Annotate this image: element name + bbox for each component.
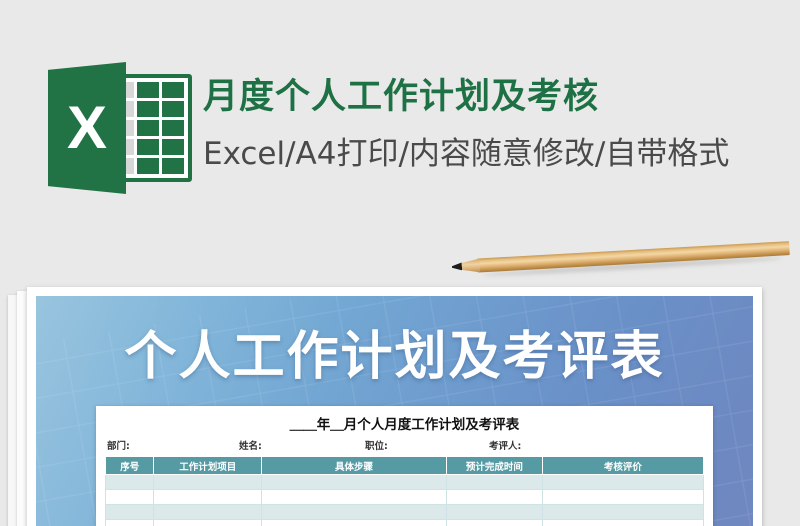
table-row [106,490,704,505]
table-cell [154,505,262,520]
table-cell [542,475,703,490]
table-cell [262,505,447,520]
grid-cell [137,82,159,98]
table-cell [106,505,154,520]
table-header-evaluation: 考核评价 [542,457,703,475]
table-cell [446,475,542,490]
table-cell [154,520,262,526]
table-cell [446,520,542,526]
header-banner: X 月度个人工作计划及考核 Excel/A4打印/内容随意修改/自带格式 [0,0,800,240]
table-cell [542,520,703,526]
inner-spreadsheet[interactable]: ＿＿年＿月个人月度工作计划及考评表 部门: 姓名: 职位: 考评人: 序号 工作… [96,406,713,526]
table-header-seq: 序号 [106,457,154,475]
table-cell [106,475,154,490]
meta-field-name: 姓名: [239,438,365,452]
work-plan-table: 序号 工作计划项目 具体步骤 预计完成时间 考核评价 [105,456,704,526]
page-title: 月度个人工作计划及考核 [203,68,599,119]
document-page-front[interactable]: 个人工作计划及考评表 ＿＿年＿月个人月度工作计划及考评表 部门: 姓名: 职位:… [27,287,762,526]
grid-cell [137,158,159,174]
meta-field-evaluator: 考评人: [489,438,609,452]
table-cell [262,490,447,505]
grid-cell [162,120,184,136]
meta-field-row: 部门: 姓名: 职位: 考评人: [105,438,704,452]
grid-cell [162,101,184,117]
document-heading: 个人工作计划及考评表 [36,314,753,389]
table-row [106,475,704,490]
table-cell [154,490,262,505]
meta-field-department: 部门: [107,438,239,452]
page-subtitle: Excel/A4打印/内容随意修改/自带格式 [203,128,729,173]
table-header-project: 工作计划项目 [154,457,262,475]
document-blue-cover: 个人工作计划及考评表 ＿＿年＿月个人月度工作计划及考评表 部门: 姓名: 职位:… [36,296,753,526]
pencil-wood-taper [460,258,481,273]
table-cell [154,475,262,490]
grid-cell [137,120,159,136]
grid-cell [162,139,184,155]
table-cell [262,520,447,526]
table-cell [262,475,447,490]
table-body [106,475,704,526]
table-cell [446,505,542,520]
excel-file-icon: X [48,62,193,194]
table-cell [542,490,703,505]
table-header-row: 序号 工作计划项目 具体步骤 预计完成时间 考核评价 [106,457,704,475]
grid-cell [162,82,184,98]
spreadsheet-title: ＿＿年＿月个人月度工作计划及考评表 [105,413,704,433]
table-header-due-date: 预计完成时间 [446,457,542,475]
table-cell [106,520,154,526]
meta-field-position: 职位: [365,438,489,452]
table-cell [446,490,542,505]
pencil-graphite-tip [452,262,462,271]
excel-x-letter: X [48,62,126,194]
table-head: 序号 工作计划项目 具体步骤 预计完成时间 考核评价 [106,457,704,475]
table-row [106,520,704,526]
grid-cell [137,101,159,117]
table-header-steps: 具体步骤 [262,457,447,475]
table-cell [106,490,154,505]
pencil-icon [451,239,790,278]
grid-cell [162,158,184,174]
table-row [106,505,704,520]
screenshot-root: X 月度个人工作计划及考核 Excel/A4打印/内容随意修改/自带格式 个人工… [0,0,800,526]
document-preview-stack[interactable]: 个人工作计划及考评表 ＿＿年＿月个人月度工作计划及考评表 部门: 姓名: 职位:… [8,287,768,526]
table-cell [542,505,703,520]
grid-cell [137,139,159,155]
